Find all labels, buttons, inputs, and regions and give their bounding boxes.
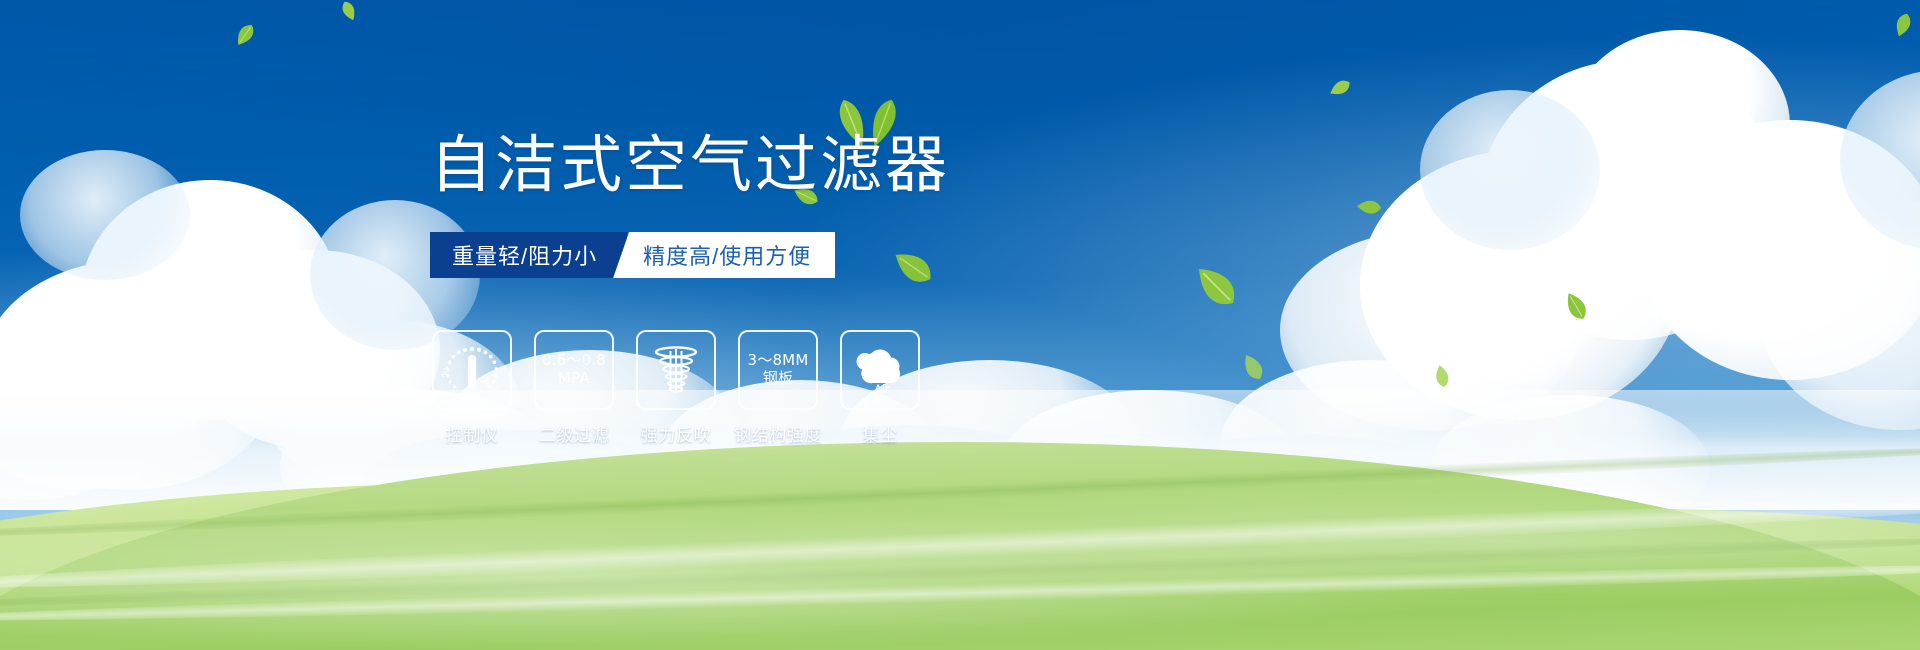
tag-secondary-label: 精度高/使用方便	[643, 239, 811, 271]
feature-text-line2: MPA	[542, 370, 606, 388]
feature-label: 控制仪	[446, 421, 499, 446]
banner-content: 自洁式空气过滤器 重量轻/阻力小 精度高/使用方便	[0, 0, 1920, 650]
feature-label: 钢结构强度	[734, 421, 822, 446]
tag-secondary[interactable]: 精度高/使用方便	[613, 232, 835, 278]
banner-stage: 自洁式空气过滤器 重量轻/阻力小 精度高/使用方便	[0, 0, 1920, 650]
feature-icon-box: NO OFF	[432, 330, 512, 410]
air-cloud-icon: Air	[849, 342, 911, 398]
feature-item[interactable]: Air 集尘	[840, 330, 920, 446]
feature-label: 集尘	[862, 421, 897, 446]
svg-text:NO: NO	[441, 366, 451, 379]
feature-label: 二级过滤	[539, 421, 609, 446]
tag-primary[interactable]: 重量轻/阻力小	[430, 232, 627, 278]
tag-primary-label: 重量轻/阻力小	[452, 239, 597, 271]
feature-item[interactable]: NO OFF 控制仪	[432, 330, 512, 446]
feature-icon-box: 0.6〜0.8 MPA	[534, 330, 614, 410]
page-title: 自洁式空气过滤器	[430, 134, 950, 196]
feature-item[interactable]: 强力反吹	[636, 330, 716, 446]
gauge-icon: NO OFF	[441, 341, 503, 399]
feature-text-line1: 0.6〜0.8	[542, 351, 606, 369]
feature-item[interactable]: 0.6〜0.8 MPA 二级过滤	[534, 330, 614, 446]
feature-list: NO OFF 控制仪 0.6〜0.8 MPA 二级过滤	[432, 330, 920, 446]
svg-text:OFF: OFF	[484, 381, 498, 394]
feature-icon-box: Air	[840, 330, 920, 410]
filter-coil-icon	[648, 342, 704, 398]
cloud-air-label: Air	[874, 382, 890, 396]
feature-icon-box	[636, 330, 716, 410]
steel-plate-text-icon: 3〜8MM 钢板	[748, 352, 809, 387]
feature-text-line2: 钢板	[748, 370, 809, 388]
feature-item[interactable]: 3〜8MM 钢板 钢结构强度	[738, 330, 818, 446]
feature-label: 强力反吹	[641, 421, 711, 446]
feature-icon-box: 3〜8MM 钢板	[738, 330, 818, 410]
pressure-text-icon: 0.6〜0.8 MPA	[542, 352, 606, 387]
tag-group: 重量轻/阻力小 精度高/使用方便	[430, 232, 835, 278]
feature-text-line1: 3〜8MM	[748, 351, 809, 369]
